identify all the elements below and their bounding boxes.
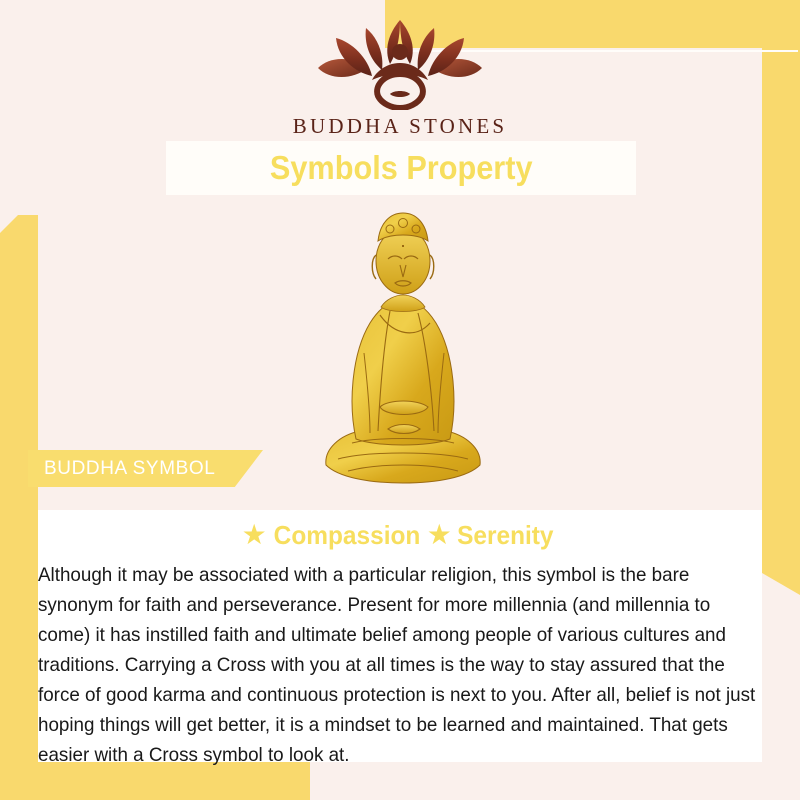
- brand-header: BUDDHA STONES: [0, 18, 800, 139]
- page-title: Symbols Property: [270, 149, 533, 187]
- section-ribbon-label: BUDDHA SYMBOL: [44, 458, 215, 480]
- subtitle-word-compassion: Compassion: [273, 520, 420, 551]
- star-icon-right: ★: [427, 521, 452, 549]
- title-panel: Symbols Property: [166, 141, 636, 195]
- poster-page: BUDDHA STONES Symbols Property: [0, 0, 800, 800]
- brand-name: BUDDHA STONES: [293, 114, 508, 139]
- body-paragraph: Although it may be associated with a par…: [38, 560, 761, 770]
- seated-buddha-statue-illustration: [318, 203, 488, 493]
- lotus-meditation-figure-icon: [310, 18, 490, 110]
- subtitle-word-serenity: Serenity: [457, 520, 553, 551]
- right-frame-stripe: [762, 215, 800, 595]
- left-frame-stripe: [0, 215, 38, 800]
- section-ribbon: BUDDHA SYMBOL: [28, 450, 263, 487]
- star-icon-left: ★: [242, 521, 267, 549]
- subtitle-row: ★ Compassion ★ Serenity: [38, 510, 762, 551]
- content-section: ★ Compassion ★ Serenity Although it may …: [38, 510, 762, 762]
